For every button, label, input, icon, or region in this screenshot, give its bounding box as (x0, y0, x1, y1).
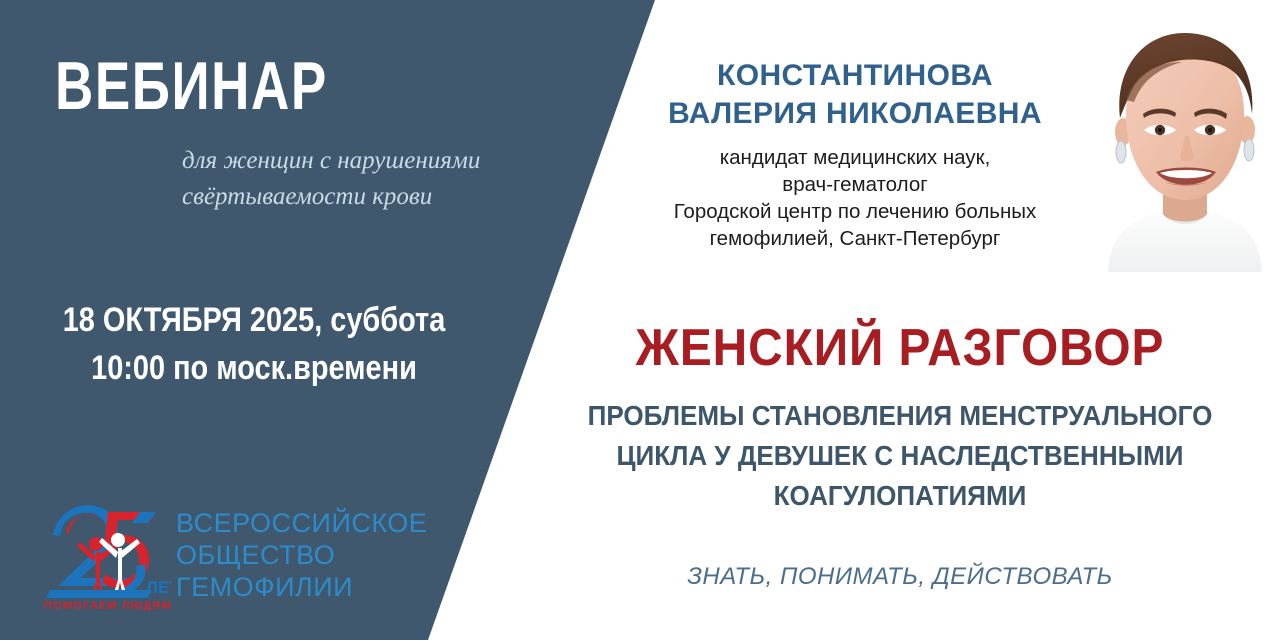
speaker-credential-line-4: гемофилией, Санкт-Петербург (550, 225, 1160, 252)
speaker-credential-line-1: кандидат медицинских наук, (550, 144, 1160, 171)
event-topic: ПРОБЛЕМЫ СТАНОВЛЕНИЯ МЕНСТРУАЛЬНОГО ЦИКЛ… (530, 396, 1270, 515)
speaker-credential-line-3: Городской центр по лечению больных (550, 198, 1160, 225)
speaker-surname: КОНСТАНТИНОВА (560, 57, 1150, 95)
right-column: КОНСТАНТИНОВА ВАЛЕРИЯ НИКОЛАЕВНА кандида… (520, 0, 1280, 640)
organization-name-line-1: ВСЕРОССИЙСКОЕ (176, 508, 427, 540)
speaker-credential-line-2: врач-гематолог (550, 171, 1160, 198)
event-tagline: ЗНАТЬ, ПОНИМАТЬ, ДЕЙСТВОВАТЬ (530, 563, 1270, 591)
webinar-heading: ВЕБИНАР (55, 52, 328, 120)
event-main-title: ЖЕНСКИЙ РАЗГОВОР (560, 322, 1241, 374)
speaker-portrait-photo (1090, 22, 1280, 272)
organization-name-line-3: ГЕМОФИЛИИ (176, 572, 427, 604)
speaker-name: КОНСТАНТИНОВА ВАЛЕРИЯ НИКОЛАЕВНА (560, 57, 1150, 134)
event-topic-line-3: КОАГУЛОПАТИЯМИ (556, 476, 1244, 516)
organization-logo: ЛЕТ ПОМОГАЕМ ЛЮДЯМ ВСЕРОССИЙСКОЕ ОБЩЕСТВ… (36, 500, 436, 618)
event-topic-line-2: ЦИКЛА У ДЕВУШЕК С НАСЛЕДСТВЕННЫМИ (556, 436, 1244, 476)
speaker-given-name: ВАЛЕРИЯ НИКОЛАЕВНА (560, 95, 1150, 133)
organization-name-line-2: ОБЩЕСТВО (176, 540, 427, 572)
event-topic-line-1: ПРОБЛЕМЫ СТАНОВЛЕНИЯ МЕНСТРУАЛЬНОГО (556, 396, 1244, 436)
event-date: 18 ОКТЯБРЯ 2025, суббота (38, 296, 470, 344)
event-time: 10:00 по моск.времени (38, 344, 470, 392)
webinar-poster: ВЕБИНАР для женщин с нарушениями свёртыв… (0, 0, 1280, 640)
logo-motto: ПОМОГАЕМ ЛЮДЯМ (44, 600, 172, 612)
event-datetime: 18 ОКТЯБРЯ 2025, суббота 10:00 по моск.в… (0, 296, 508, 393)
organization-name: ВСЕРОССИЙСКОЕ ОБЩЕСТВО ГЕМОФИЛИИ (176, 508, 427, 604)
left-column: ВЕБИНАР для женщин с нарушениями свёртыв… (0, 0, 600, 640)
anniversary-25-logo-icon: ЛЕТ ПОМОГАЕМ ЛЮДЯМ (36, 500, 172, 612)
logo-years-label: ЛЕТ (146, 578, 172, 597)
speaker-credentials: кандидат медицинских наук, врач-гематоло… (550, 144, 1160, 252)
